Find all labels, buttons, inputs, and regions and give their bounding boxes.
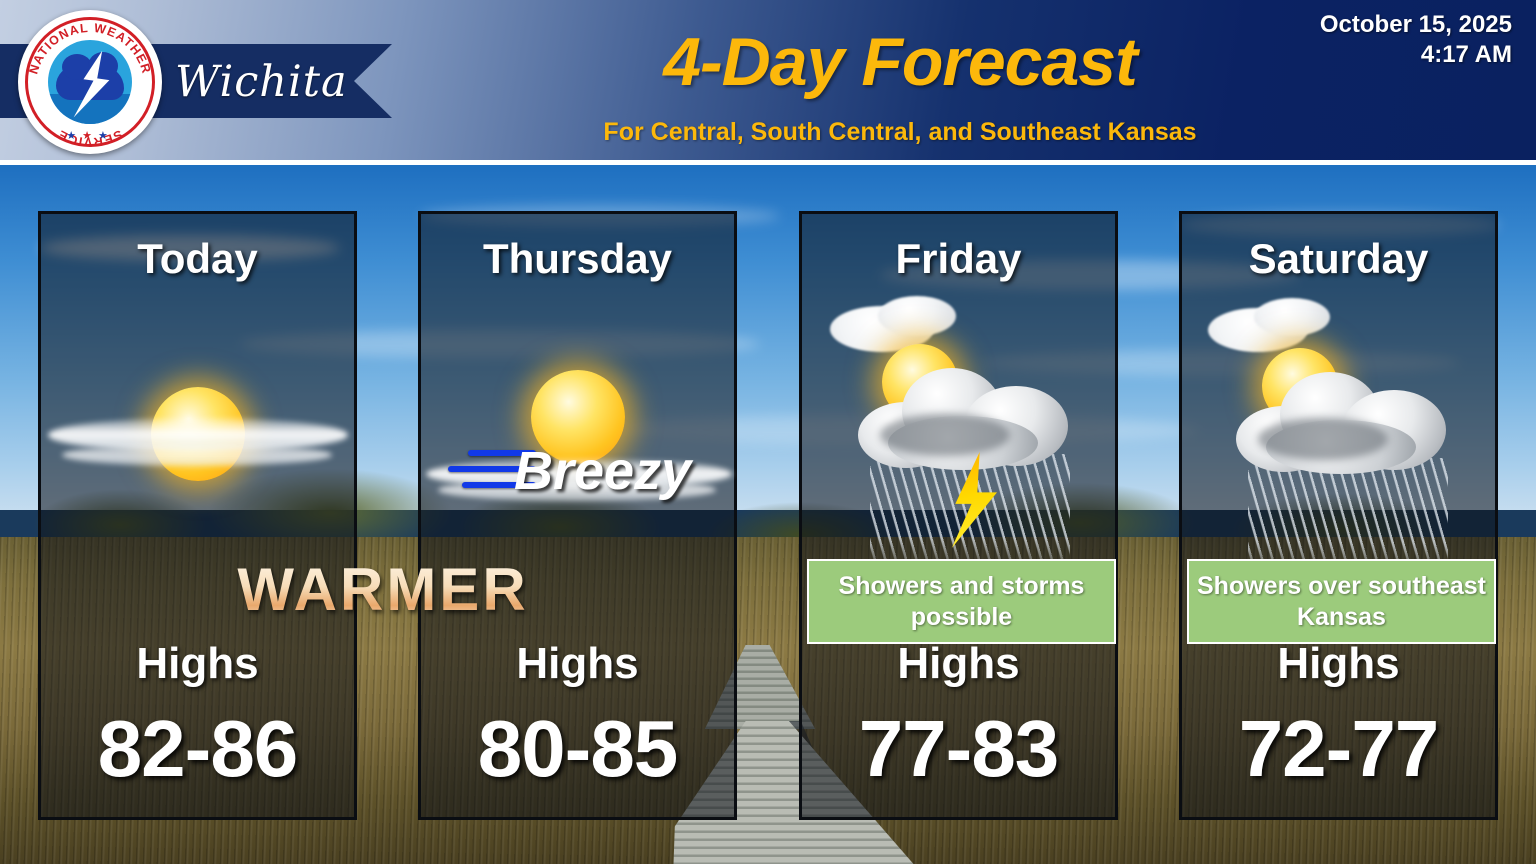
breezy-overlay: Breezy bbox=[440, 438, 730, 504]
day-label: Saturday bbox=[1182, 235, 1495, 283]
condition-note: Showers over southeast Kansas bbox=[1187, 559, 1496, 644]
temperature-range: 77-83 bbox=[802, 703, 1115, 795]
highs-label: Highs bbox=[1182, 639, 1495, 689]
warmer-overlay-label: WARMER bbox=[168, 555, 598, 625]
highs-label: Highs bbox=[421, 639, 734, 689]
forecast-panel-saturday[interactable]: Saturday bbox=[1179, 211, 1498, 820]
day-label: Thursday bbox=[421, 235, 734, 283]
rain-cloud bbox=[1236, 366, 1446, 474]
rain-cloud bbox=[858, 362, 1068, 470]
condition-note: Showers and storms possible bbox=[807, 559, 1116, 644]
highs-label: Highs bbox=[41, 639, 354, 689]
thin-cloud bbox=[62, 444, 332, 466]
temperature-range: 82-86 bbox=[41, 703, 354, 795]
forecast-panel-thursday[interactable]: Thursday bbox=[418, 211, 737, 820]
highs-label: Highs bbox=[802, 639, 1115, 689]
breezy-label: Breezy bbox=[514, 438, 691, 504]
day-label: Friday bbox=[802, 235, 1115, 283]
forecast-panels: Today bbox=[0, 0, 1536, 864]
temperature-range: 80-85 bbox=[421, 703, 734, 795]
sun-cloud-rain-icon bbox=[1182, 294, 1495, 574]
forecast-graphic: Wichita NATIONAL WEATHER SERVICE ★★★ 4-D… bbox=[0, 0, 1536, 864]
temperature-range: 72-77 bbox=[1182, 703, 1495, 795]
sun-cloud-rain-thunderstorm-icon bbox=[802, 294, 1115, 574]
forecast-panel-friday[interactable]: Friday bbox=[799, 211, 1118, 820]
day-label: Today bbox=[41, 235, 354, 283]
forecast-panel-today[interactable]: Today bbox=[38, 211, 357, 820]
sun-behind-thin-cloud-icon bbox=[41, 294, 354, 574]
sun-above-thin-cloud-icon bbox=[421, 294, 734, 574]
